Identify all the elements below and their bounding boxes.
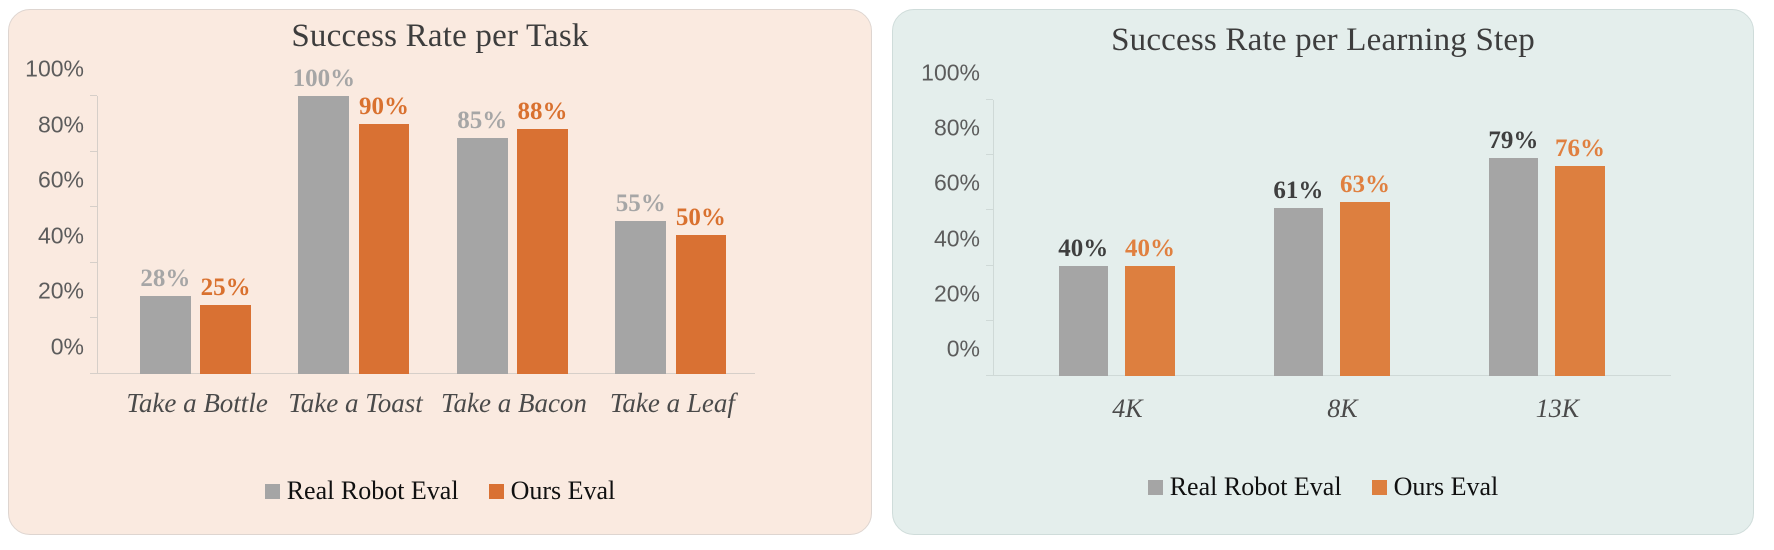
bar-ours-8k[interactable]: 63% <box>1340 202 1389 376</box>
bar-group-8k: 61% 63% 8K <box>1235 100 1450 376</box>
legend-label: Real Robot Eval <box>287 476 459 506</box>
y-axis-line-right <box>993 100 994 376</box>
bar-real-robot-take-a-toast[interactable]: 100% <box>298 96 349 374</box>
bar-ours-take-a-bacon[interactable]: 88% <box>517 129 568 374</box>
bar-value-label: 28% <box>140 266 190 291</box>
plot-area-right: 0% 20% 40% 60% 80% 100% 40% 40% 4K 61% <box>993 100 1665 376</box>
bar-real-robot-take-a-bacon[interactable]: 85% <box>457 138 508 374</box>
bar-real-robot-13k[interactable]: 79% <box>1489 158 1538 376</box>
bar-group-take-a-toast: 100% 90% Take a Toast <box>276 96 434 374</box>
y-axis-line-left <box>97 96 98 374</box>
y-tick-80-left <box>90 151 97 152</box>
legend-swatch-gray-icon <box>265 484 280 499</box>
chart-title-right: Success Rate per Learning Step <box>893 22 1753 59</box>
bar-value-label: 100% <box>293 66 356 91</box>
plot-area-left: 0% 20% 40% 60% 80% 100% 28% 25% Take a B… <box>97 96 749 374</box>
y-tick-20-left <box>90 317 97 318</box>
y-tick-100-right <box>986 99 993 100</box>
legend-swatch-orange-icon <box>1372 480 1387 495</box>
category-label-take-a-toast: Take a Toast <box>288 388 423 419</box>
bar-group-take-a-bacon: 85% 88% Take a Bacon <box>435 96 593 374</box>
legend-swatch-gray-icon <box>1148 480 1163 495</box>
y-axis-label-80-right: 80% <box>934 115 980 142</box>
bar-value-label: 90% <box>359 94 409 119</box>
bar-value-label: 88% <box>517 99 567 124</box>
bar-value-label: 55% <box>616 191 666 216</box>
y-axis-label-0-right: 0% <box>947 336 980 363</box>
y-axis-label-20-left: 20% <box>38 278 84 305</box>
bar-group-13k: 79% 76% 13K <box>1450 100 1665 376</box>
bar-value-label: 40% <box>1058 236 1108 261</box>
category-label-8k: 8K <box>1327 394 1357 424</box>
y-tick-0-right <box>986 375 993 376</box>
figure-root: Success Rate per Task 0% 20% 40% 60% 80%… <box>0 0 1774 550</box>
y-axis-label-40-left: 40% <box>38 222 84 249</box>
bar-ours-4k[interactable]: 40% <box>1125 266 1174 376</box>
bar-value-label: 85% <box>457 108 507 133</box>
legend-label: Ours Eval <box>511 476 616 506</box>
legend-swatch-orange-icon <box>489 484 504 499</box>
category-label-take-a-bacon: Take a Bacon <box>441 388 587 419</box>
y-tick-40-left <box>90 262 97 263</box>
y-tick-60-right <box>986 209 993 210</box>
bar-real-robot-4k[interactable]: 40% <box>1059 266 1108 376</box>
chart-panel-success-rate-per-learning-step: Success Rate per Learning Step 0% 20% 40… <box>892 9 1754 535</box>
y-axis-label-80-left: 80% <box>38 111 84 138</box>
y-tick-100-left <box>90 95 97 96</box>
category-label-4k: 4K <box>1112 394 1142 424</box>
y-axis-label-100-left: 100% <box>25 56 84 83</box>
legend-right: Real Robot Eval Ours Eval <box>893 472 1753 502</box>
y-tick-40-right <box>986 265 993 266</box>
y-axis-label-40-right: 40% <box>934 225 980 252</box>
y-axis-label-20-right: 20% <box>934 280 980 307</box>
chart-panel-success-rate-per-task: Success Rate per Task 0% 20% 40% 60% 80%… <box>8 9 872 535</box>
y-tick-0-left <box>90 373 97 374</box>
y-axis-label-60-right: 60% <box>934 170 980 197</box>
chart-title-left: Success Rate per Task <box>9 18 871 55</box>
y-axis-label-0-left: 0% <box>51 334 84 361</box>
legend-label: Real Robot Eval <box>1170 472 1342 502</box>
bar-value-label: 40% <box>1125 236 1175 261</box>
bar-value-label: 63% <box>1340 172 1390 197</box>
legend-item-real-robot-eval-right[interactable]: Real Robot Eval <box>1148 472 1342 502</box>
bar-value-label: 76% <box>1555 136 1605 161</box>
legend-left: Real Robot Eval Ours Eval <box>9 476 871 506</box>
category-label-13k: 13K <box>1536 394 1579 424</box>
bar-real-robot-8k[interactable]: 61% <box>1274 208 1323 376</box>
y-tick-20-right <box>986 320 993 321</box>
y-tick-60-left <box>90 206 97 207</box>
bar-value-label: 50% <box>676 205 726 230</box>
category-label-take-a-bottle: Take a Bottle <box>126 388 268 419</box>
legend-item-ours-eval-left[interactable]: Ours Eval <box>489 476 616 506</box>
bar-value-label: 25% <box>201 275 251 300</box>
bar-ours-13k[interactable]: 76% <box>1555 166 1604 376</box>
legend-item-ours-eval-right[interactable]: Ours Eval <box>1372 472 1499 502</box>
bar-value-label: 61% <box>1273 178 1323 203</box>
bar-ours-take-a-leaf[interactable]: 50% <box>676 235 727 374</box>
bar-value-label: 79% <box>1488 128 1538 153</box>
bar-group-4k: 40% 40% 4K <box>1020 100 1235 376</box>
bar-real-robot-take-a-bottle[interactable]: 28% <box>140 296 191 374</box>
bar-real-robot-take-a-leaf[interactable]: 55% <box>615 221 666 374</box>
bar-ours-take-a-bottle[interactable]: 25% <box>200 305 251 375</box>
category-label-take-a-leaf: Take a Leaf <box>610 388 735 419</box>
bar-ours-take-a-toast[interactable]: 90% <box>359 124 410 374</box>
y-tick-80-right <box>986 154 993 155</box>
y-axis-label-100-right: 100% <box>921 60 980 87</box>
legend-item-real-robot-eval-left[interactable]: Real Robot Eval <box>265 476 459 506</box>
bar-group-take-a-leaf: 55% 50% Take a Leaf <box>593 96 751 374</box>
legend-label: Ours Eval <box>1394 472 1499 502</box>
y-axis-label-60-left: 60% <box>38 167 84 194</box>
bar-group-take-a-bottle: 28% 25% Take a Bottle <box>118 96 276 374</box>
